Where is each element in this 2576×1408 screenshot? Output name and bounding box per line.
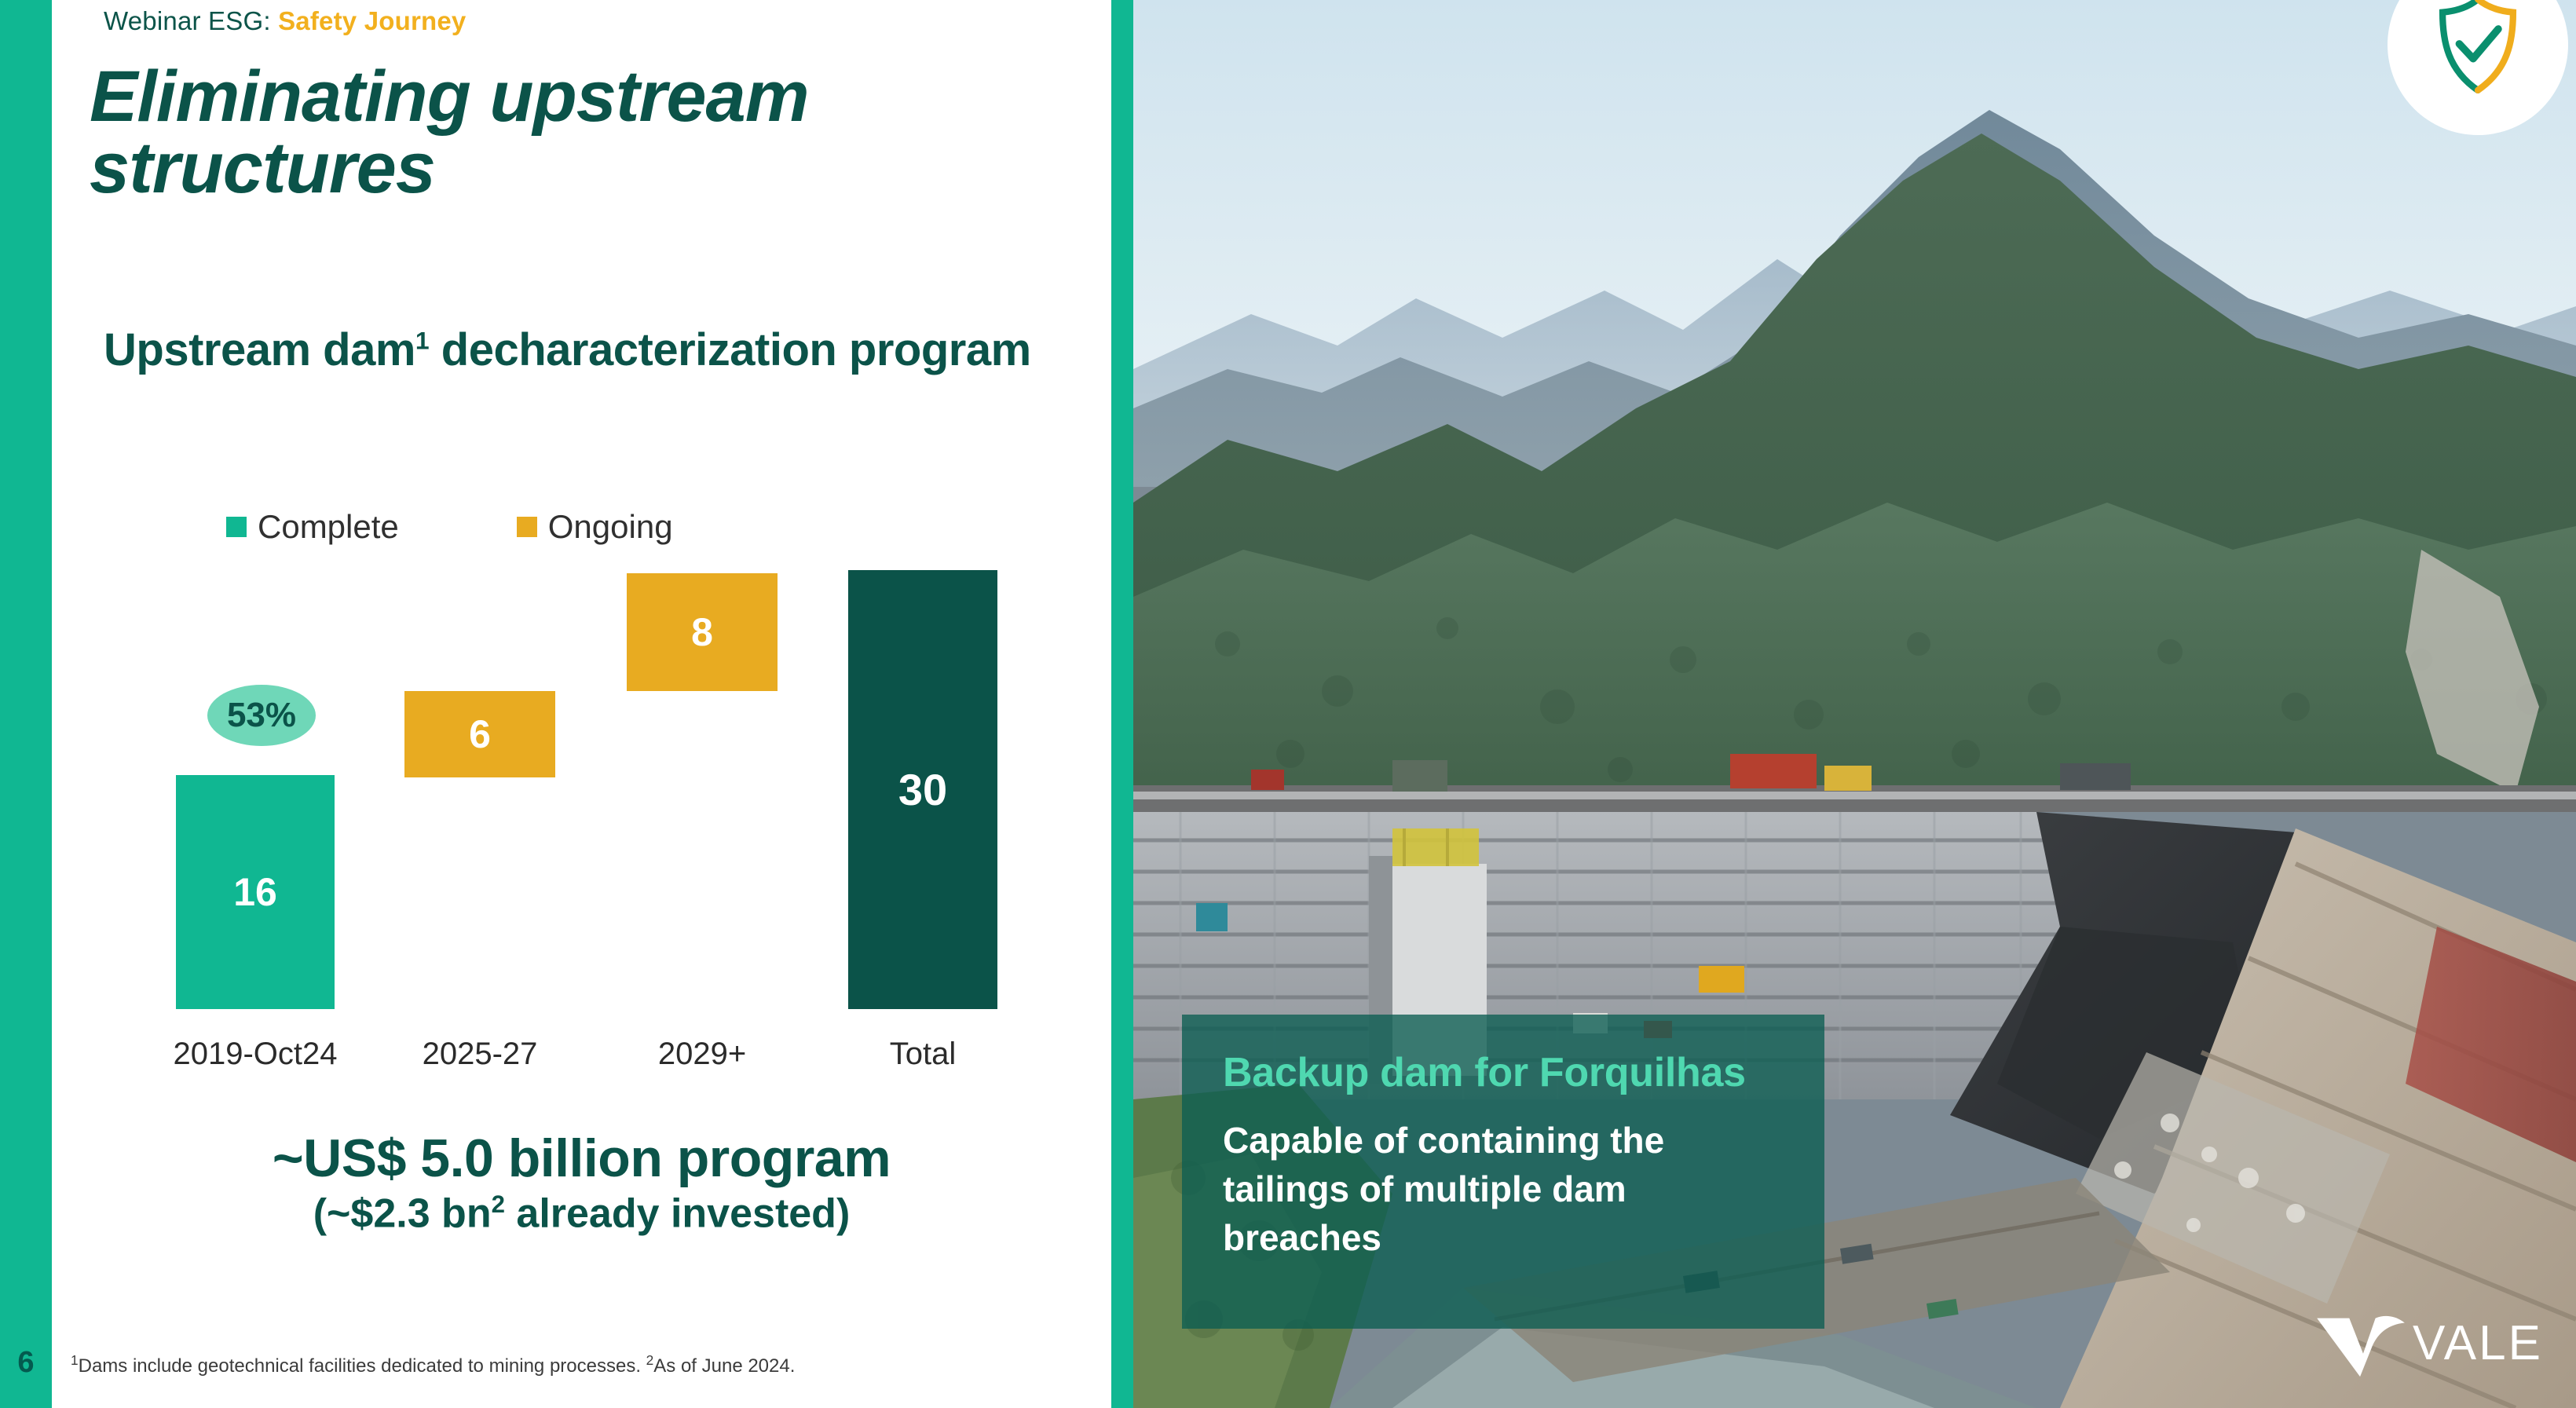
kicker-highlight: Safety Journey xyxy=(278,6,466,35)
bar-value-0: 16 xyxy=(233,872,277,912)
footnote-marker-1: 1 xyxy=(71,1352,79,1368)
category-label-2: 2029+ xyxy=(584,1038,820,1070)
caption-title: Backup dam for Forquilhas xyxy=(1223,1051,1784,1095)
caption-body: Capable of containing the tailings of mu… xyxy=(1223,1116,1784,1262)
bar-value-2: 8 xyxy=(691,613,713,652)
chart-legend: Complete Ongoing xyxy=(226,510,673,543)
panel-divider xyxy=(1111,0,1133,1408)
left-accent-stripe xyxy=(0,0,52,1408)
footnote-text-1: Dams include geotechnical facilities ded… xyxy=(79,1355,646,1377)
photo-caption: Backup dam for Forquilhas Capable of con… xyxy=(1182,1015,1824,1329)
kicker: Webinar ESG: Safety Journey xyxy=(104,6,467,36)
bar-ongoing-2029-plus: 8 xyxy=(627,573,778,691)
chart-heading-footnote-marker: 1 xyxy=(415,327,429,355)
legend-item-complete: Complete xyxy=(226,510,399,543)
vale-wordmark: VALE xyxy=(2413,1319,2543,1368)
chart-heading: Upstream dam1 decharacterization program xyxy=(104,324,1093,376)
legend-item-ongoing: Ongoing xyxy=(517,510,673,543)
callout-sub-suffix: already invested) xyxy=(505,1191,850,1237)
vale-logo: VALE xyxy=(2315,1306,2543,1381)
kicker-prefix: Webinar ESG: xyxy=(104,6,278,35)
legend-swatch-ongoing xyxy=(517,517,537,537)
bar-value-3: 30 xyxy=(898,768,947,812)
legend-swatch-complete xyxy=(226,517,247,537)
category-label-3: Total xyxy=(805,1038,1041,1070)
category-label-1: 2025-27 xyxy=(362,1038,598,1070)
percent-badge-label: 53% xyxy=(227,698,296,733)
bar-total: 30 xyxy=(848,570,997,1009)
category-label-0: 2019-Oct24 xyxy=(137,1038,373,1070)
slide: 6 Webinar ESG: Safety Journey Eliminatin… xyxy=(0,0,2576,1408)
callout-sub: (~$2.3 bn2 already invested) xyxy=(52,1191,1111,1237)
percent-badge-53: 53% xyxy=(207,685,316,746)
callout-sub-prefix: (~$2.3 bn xyxy=(313,1191,492,1237)
page-title: Eliminating upstream structures xyxy=(90,61,1032,204)
legend-label-complete: Complete xyxy=(258,510,399,543)
vale-leaf-icon xyxy=(2315,1306,2408,1381)
callout-headline: ~US$ 5.0 billion program xyxy=(52,1131,1111,1187)
shield-check-glyph xyxy=(2431,0,2525,96)
footnote-text-2: As of June 2024. xyxy=(653,1355,795,1377)
program-callout: ~US$ 5.0 billion program (~$2.3 bn2 alre… xyxy=(52,1131,1111,1237)
bar-ongoing-2025-27: 6 xyxy=(404,691,555,777)
dam-photo: VALE Backup dam for Forquilhas Capable o… xyxy=(1133,0,2576,1408)
footnote: 1Dams include geotechnical facilities de… xyxy=(71,1352,795,1377)
footnote-marker-2: 2 xyxy=(646,1352,654,1368)
chart-heading-after: decharacterization program xyxy=(429,324,1031,375)
legend-label-ongoing: Ongoing xyxy=(548,510,673,543)
page-number: 6 xyxy=(0,1346,52,1380)
bar-value-1: 6 xyxy=(469,715,491,754)
chart-heading-before: Upstream dam xyxy=(104,324,415,375)
callout-sub-marker: 2 xyxy=(492,1190,505,1218)
bar-complete-2019-oct24: 16 xyxy=(176,775,335,1009)
